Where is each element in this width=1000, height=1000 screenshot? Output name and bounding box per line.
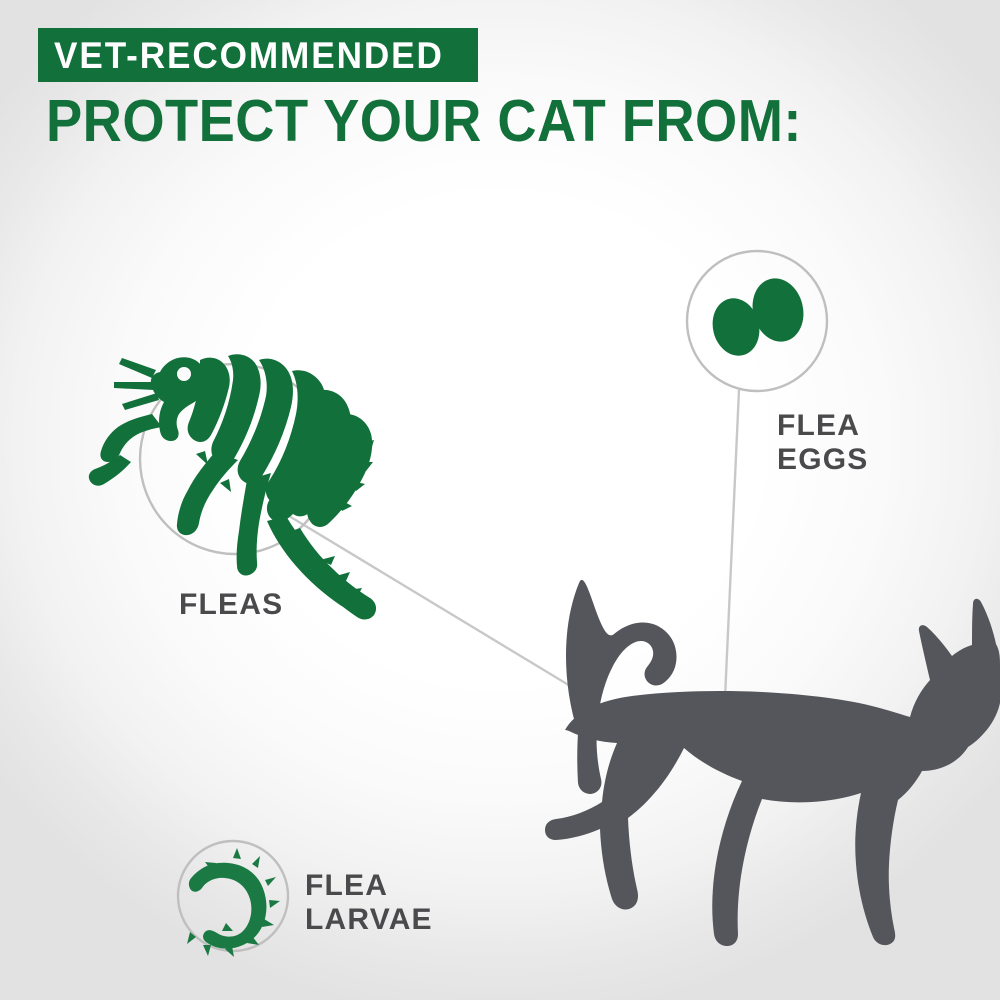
callout-flea-eggs[interactable] [687,251,827,391]
flea-eggs-icon [707,273,810,361]
flea-icon [89,354,376,619]
callout-flea-larvae[interactable] [178,841,288,957]
leader-line-flea-eggs [723,390,739,742]
callout-label-flea-eggs: FLEA EGGS [777,409,869,476]
callout-label-fleas: FLEAS [179,588,283,622]
poster-canvas: VET-RECOMMENDED PROTECT YOUR CAT FROM: [0,0,1000,1000]
flea-larvae-circle-outline [178,841,288,951]
callout-label-flea-larvae: FLEA LARVAE [305,869,433,936]
callout-fleas[interactable] [89,354,376,619]
illustration-scene [0,0,1000,1000]
cat-silhouette-icon [545,580,1000,946]
